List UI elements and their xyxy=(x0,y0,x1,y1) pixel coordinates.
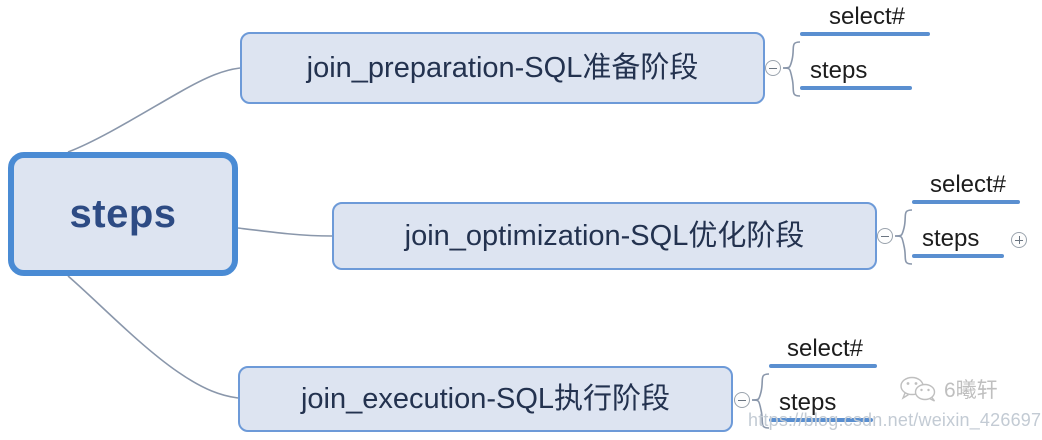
leaf-node-select-3[interactable]: select# xyxy=(769,336,877,368)
branch-node-label: join_preparation-SQL准备阶段 xyxy=(307,54,699,83)
leaf-node-label: select# xyxy=(912,172,1020,200)
leaf-node-label: steps xyxy=(912,226,1004,254)
watermark-brand: 6曦轩 xyxy=(898,374,998,404)
leaf-node-label: select# xyxy=(800,4,930,32)
leaf-node-label: steps xyxy=(800,58,912,86)
connector-branch-3-to-leaf-1 xyxy=(752,374,769,400)
connector-branch-2-to-leaf-1 xyxy=(895,210,912,236)
leaf-node-select-1[interactable]: select# xyxy=(800,4,930,36)
branch-node-join-optimization[interactable]: join_optimization-SQL优化阶段 xyxy=(332,202,877,270)
collapse-minus-icon-branch-3[interactable] xyxy=(734,392,750,408)
connector-root-to-branch-1 xyxy=(68,68,240,152)
leaf-node-steps-1[interactable]: steps xyxy=(800,58,912,90)
connector-root-to-branch-3 xyxy=(68,276,238,398)
leaf-underline xyxy=(800,32,930,36)
leaf-node-steps-2[interactable]: steps xyxy=(912,226,1004,258)
connector-branch-1-to-leaf-2 xyxy=(783,68,800,96)
branch-node-label: join_optimization-SQL优化阶段 xyxy=(405,222,805,251)
branch-node-join-preparation[interactable]: join_preparation-SQL准备阶段 xyxy=(240,32,765,104)
collapse-minus-icon-branch-1[interactable] xyxy=(765,60,781,76)
leaf-underline xyxy=(912,200,1020,204)
root-node-label: steps xyxy=(70,192,177,237)
branch-node-label: join_execution-SQL执行阶段 xyxy=(301,385,670,414)
collapse-minus-icon-branch-2[interactable] xyxy=(877,228,893,244)
leaf-node-label: select# xyxy=(769,336,877,364)
expand-plus-icon-branch-2-steps[interactable] xyxy=(1011,232,1027,248)
leaf-node-select-2[interactable]: select# xyxy=(912,172,1020,204)
leaf-underline xyxy=(800,86,912,90)
root-node[interactable]: steps xyxy=(8,152,238,276)
leaf-underline xyxy=(769,364,877,368)
leaf-underline xyxy=(912,254,1004,258)
connector-branch-1-to-leaf-1 xyxy=(783,42,800,68)
watermark-url: https://blog.csdn.net/weixin_42669785 xyxy=(748,410,1042,431)
branch-node-join-execution[interactable]: join_execution-SQL执行阶段 xyxy=(238,366,733,432)
connector-branch-2-to-leaf-2 xyxy=(895,236,912,264)
connector-root-to-branch-2 xyxy=(238,228,332,236)
watermark-brand-name: 6曦轩 xyxy=(944,374,998,404)
mindmap-canvas: steps join_preparation-SQL准备阶段 select# s… xyxy=(0,0,1042,440)
wechat-icon xyxy=(898,375,938,403)
